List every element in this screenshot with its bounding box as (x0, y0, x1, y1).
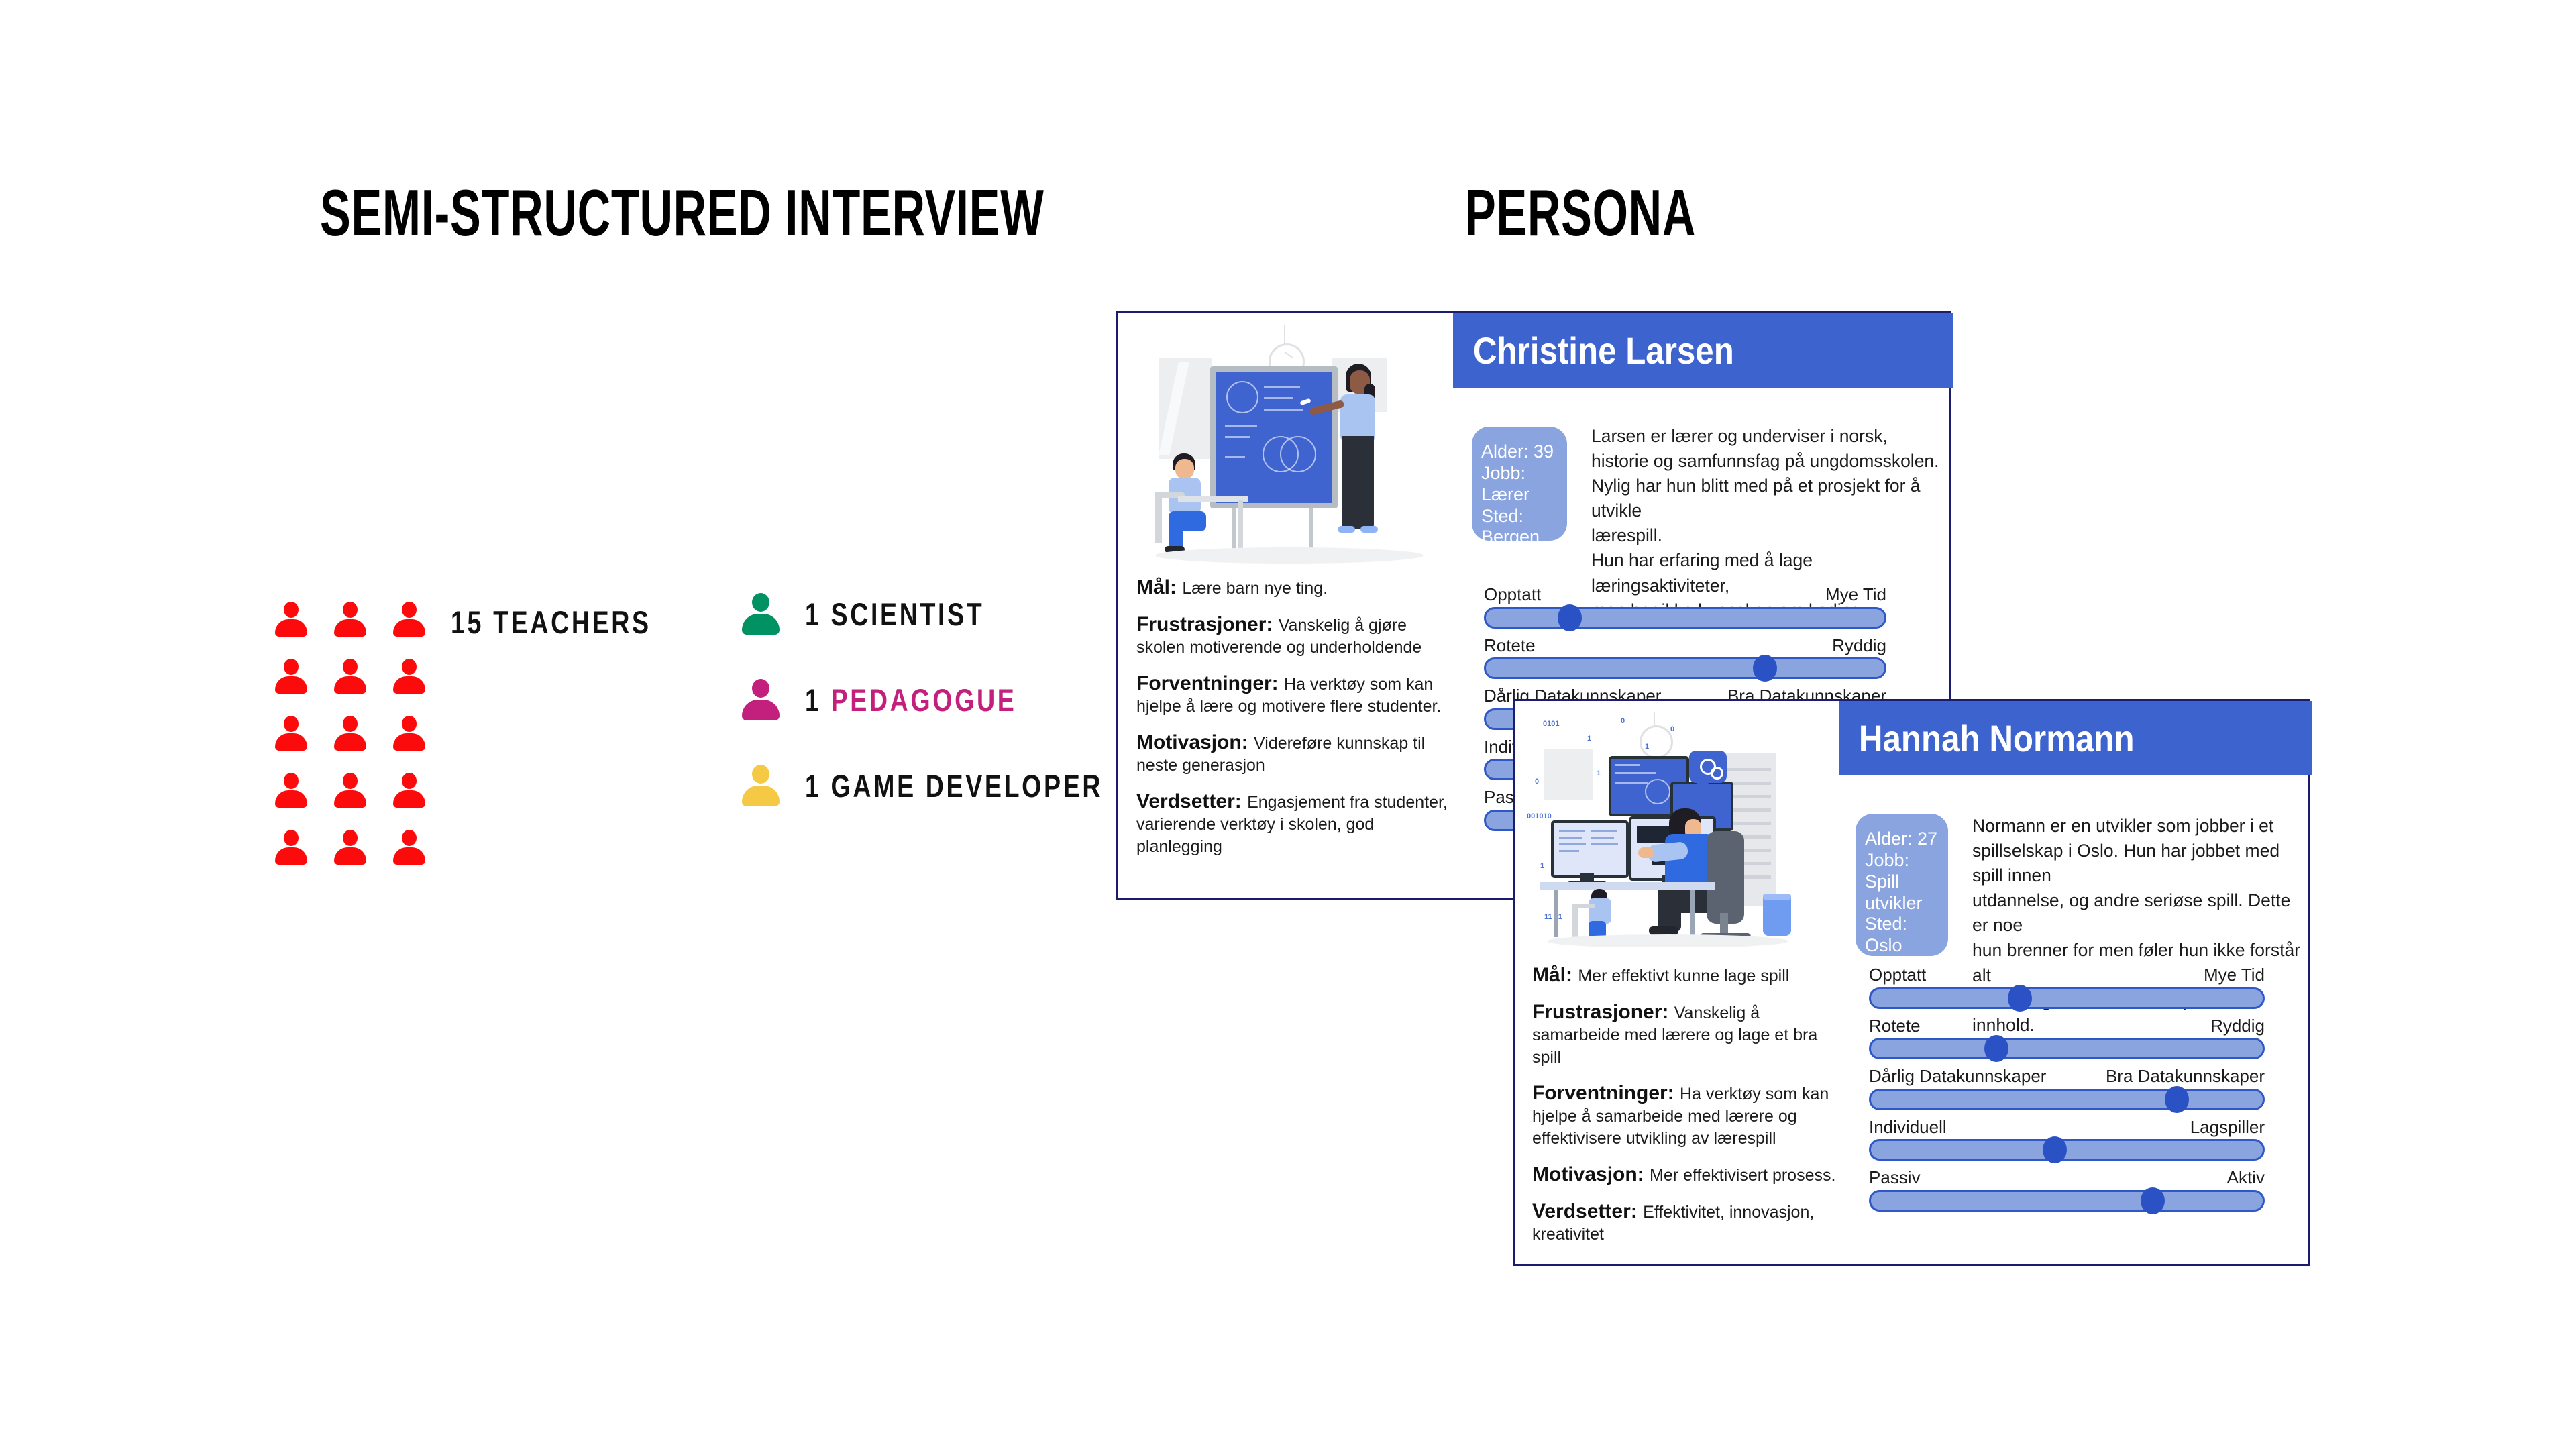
persona-facts-pill-christine: Alder: 39Jobb: LærerSted: Bergen (1472, 427, 1567, 541)
slider-label-left: Individuell (1869, 1118, 1947, 1137)
persona-attribute-value: Mer effektivt kunne lage spill (1578, 967, 1789, 985)
slider-thumb[interactable] (2165, 1086, 2189, 1113)
developer-desk-illustration: 0101 1 0 01 1 0 0 1 0 0111 001010 0 1 01… (1527, 712, 1856, 947)
persona-card-hannah: 0101 1 0 01 1 0 0 1 0 0111 001010 0 1 01… (1513, 699, 2310, 1266)
slider-track[interactable] (1869, 1089, 2265, 1110)
persona-attribute-value: Mer effektivisert prosess. (1650, 1166, 1835, 1185)
slider-thumb[interactable] (2043, 1136, 2067, 1163)
person-icon (334, 773, 366, 808)
person-icon (742, 679, 780, 720)
persona-attribute-key: Mål: (1532, 964, 1578, 986)
participant-row: 1 SCIENTIST (742, 593, 1177, 635)
slider-label-right: Mye Tid (1825, 585, 1886, 604)
persona-card-header-hannah: Hannah Normann (1839, 701, 2312, 775)
slider-thumb[interactable] (1558, 604, 1582, 631)
persona-attribute-key: Forventninger: (1532, 1082, 1680, 1104)
persona-name-christine: Christine Larsen (1453, 329, 1734, 372)
slider-label-right: Aktiv (2227, 1168, 2265, 1187)
persona-attribute-key: Forventninger: (1136, 672, 1284, 694)
persona-attribute-value: Lære barn nye ting. (1182, 579, 1328, 598)
persona-fact: Alder: 39 (1481, 441, 1567, 463)
slider-label-left: Passiv (1869, 1168, 1921, 1187)
slider-label-right: Lagspiller (2190, 1118, 2265, 1137)
persona-fact: Sted: Bergen (1481, 506, 1567, 549)
person-icon (334, 830, 366, 865)
persona-slider[interactable]: RoteteRyddig (1484, 636, 1886, 680)
slider-label-left: Dårlig Datakunnskaper (1869, 1067, 2046, 1086)
slider-track[interactable] (1484, 607, 1886, 629)
slider-label-right: Ryddig (1832, 636, 1886, 655)
person-icon (742, 765, 780, 806)
person-icon (334, 602, 366, 637)
slider-label-left: Opptatt (1869, 965, 1926, 985)
persona-slider[interactable]: OpptattMye Tid (1484, 585, 1886, 629)
person-icon (275, 830, 307, 865)
other-participants-list: 1 SCIENTIST1 PEDAGOGUE1 GAME DEVELOPER (742, 593, 1177, 851)
slider-track[interactable] (1869, 1139, 2265, 1161)
persona-attribute-key: Mål: (1136, 576, 1182, 598)
persona-attribute: Forventninger: Ha verktøy som kan hjelpe… (1136, 672, 1452, 718)
persona-attribute: Verdsetter: Engasjement fra studenter, v… (1136, 790, 1452, 858)
person-icon (393, 659, 425, 694)
persona-name-hannah: Hannah Normann (1839, 716, 2135, 760)
person-icon (393, 602, 425, 637)
slider-label-left: Opptatt (1484, 585, 1541, 604)
persona-sliders-hannah: OpptattMye TidRoteteRyddigDårlig Datakun… (1869, 965, 2265, 1219)
persona-attribute: Verdsetter: Effektivitet, innovasjon, kr… (1532, 1200, 1847, 1246)
slider-thumb[interactable] (1753, 655, 1777, 682)
persona-attribute-key: Frustrasjoner: (1532, 1001, 1674, 1023)
person-icon (275, 716, 307, 751)
teachers-icon-grid (275, 590, 452, 875)
person-icon (742, 593, 780, 635)
participant-row: 1 GAME DEVELOPER (742, 765, 1177, 806)
persona-facts-pill-hannah: Alder: 27Jobb: Spill utviklerSted: Oslo (1856, 814, 1948, 956)
persona-slider[interactable]: RoteteRyddig (1869, 1016, 2265, 1060)
slider-track[interactable] (1869, 1190, 2265, 1212)
persona-slider[interactable]: Dårlig DatakunnskaperBra Datakunnskaper (1869, 1067, 2265, 1110)
persona-fact: Jobb: Spill utvikler (1865, 850, 1948, 914)
person-icon (393, 830, 425, 865)
slider-thumb[interactable] (2008, 985, 2032, 1012)
person-icon (275, 602, 307, 637)
persona-section-title: PERSONA (1465, 180, 1696, 246)
person-icon (334, 659, 366, 694)
slider-label-right: Mye Tid (2204, 965, 2265, 985)
persona-card-header-christine: Christine Larsen (1453, 313, 1953, 388)
persona-slider[interactable]: OpptattMye Tid (1869, 965, 2265, 1009)
persona-fact: Sted: Oslo (1865, 914, 1948, 957)
persona-fact: Alder: 27 (1865, 828, 1948, 850)
persona-attribute-key: Motivasjon: (1136, 731, 1254, 753)
persona-attribute: Mål: Lære barn nye ting. (1136, 576, 1452, 600)
persona-slider[interactable]: IndividuellLagspiller (1869, 1118, 2265, 1161)
person-icon (393, 773, 425, 808)
slider-thumb[interactable] (2141, 1187, 2165, 1214)
participant-row: 1 PEDAGOGUE (742, 679, 1177, 720)
slider-label-left: Rotete (1869, 1016, 1921, 1036)
persona-fact: Jobb: Lærer (1481, 463, 1567, 506)
persona-attribute: Frustrasjoner: Vanskelig å samarbeide me… (1532, 1001, 1847, 1069)
persona-attribute: Motivasjon: Mer effektivisert prosess. (1532, 1163, 1847, 1187)
slider-label-right: Bra Datakunnskaper (2106, 1067, 2265, 1086)
persona-attribute-key: Motivasjon: (1532, 1163, 1650, 1185)
person-icon (275, 773, 307, 808)
persona-attribute: Forventninger: Ha verktøy som kan hjelpe… (1532, 1082, 1847, 1150)
persona-attribute-key: Frustrasjoner: (1136, 613, 1279, 635)
interview-section-title: SEMI-STRUCTURED INTERVIEW (320, 180, 1044, 246)
classroom-teacher-illustration (1131, 325, 1446, 566)
persona-attribute-key: Verdsetter: (1136, 790, 1247, 812)
person-icon (334, 716, 366, 751)
person-icon (275, 659, 307, 694)
persona-attribute: Frustrasjoner: Vanskelig å gjøre skolen … (1136, 613, 1452, 659)
slider-label-right: Ryddig (2210, 1016, 2265, 1036)
participant-count-label: 1 PEDAGOGUE (805, 682, 1016, 718)
teachers-count-label: 15 TEACHERS (451, 604, 651, 641)
persona-attributes-hannah: Mål: Mer effektivt kunne lage spillFrust… (1532, 964, 1847, 1259)
participant-count-label: 1 GAME DEVELOPER (805, 767, 1103, 804)
persona-attribute-key: Verdsetter: (1532, 1200, 1643, 1222)
slider-track[interactable] (1869, 1038, 2265, 1059)
persona-slider[interactable]: PassivAktiv (1869, 1168, 2265, 1212)
slider-thumb[interactable] (1984, 1035, 2008, 1062)
slider-track[interactable] (1869, 987, 2265, 1009)
slider-label-left: Rotete (1484, 636, 1536, 655)
persona-attributes-christine: Mål: Lære barn nye ting.Frustrasjoner: V… (1136, 576, 1452, 871)
person-icon (393, 716, 425, 751)
slider-track[interactable] (1484, 657, 1886, 679)
participant-count-label: 1 SCIENTIST (805, 596, 984, 633)
persona-attribute: Motivasjon: Videreføre kunnskap til nest… (1136, 731, 1452, 777)
persona-attribute: Mål: Mer effektivt kunne lage spill (1532, 964, 1847, 987)
